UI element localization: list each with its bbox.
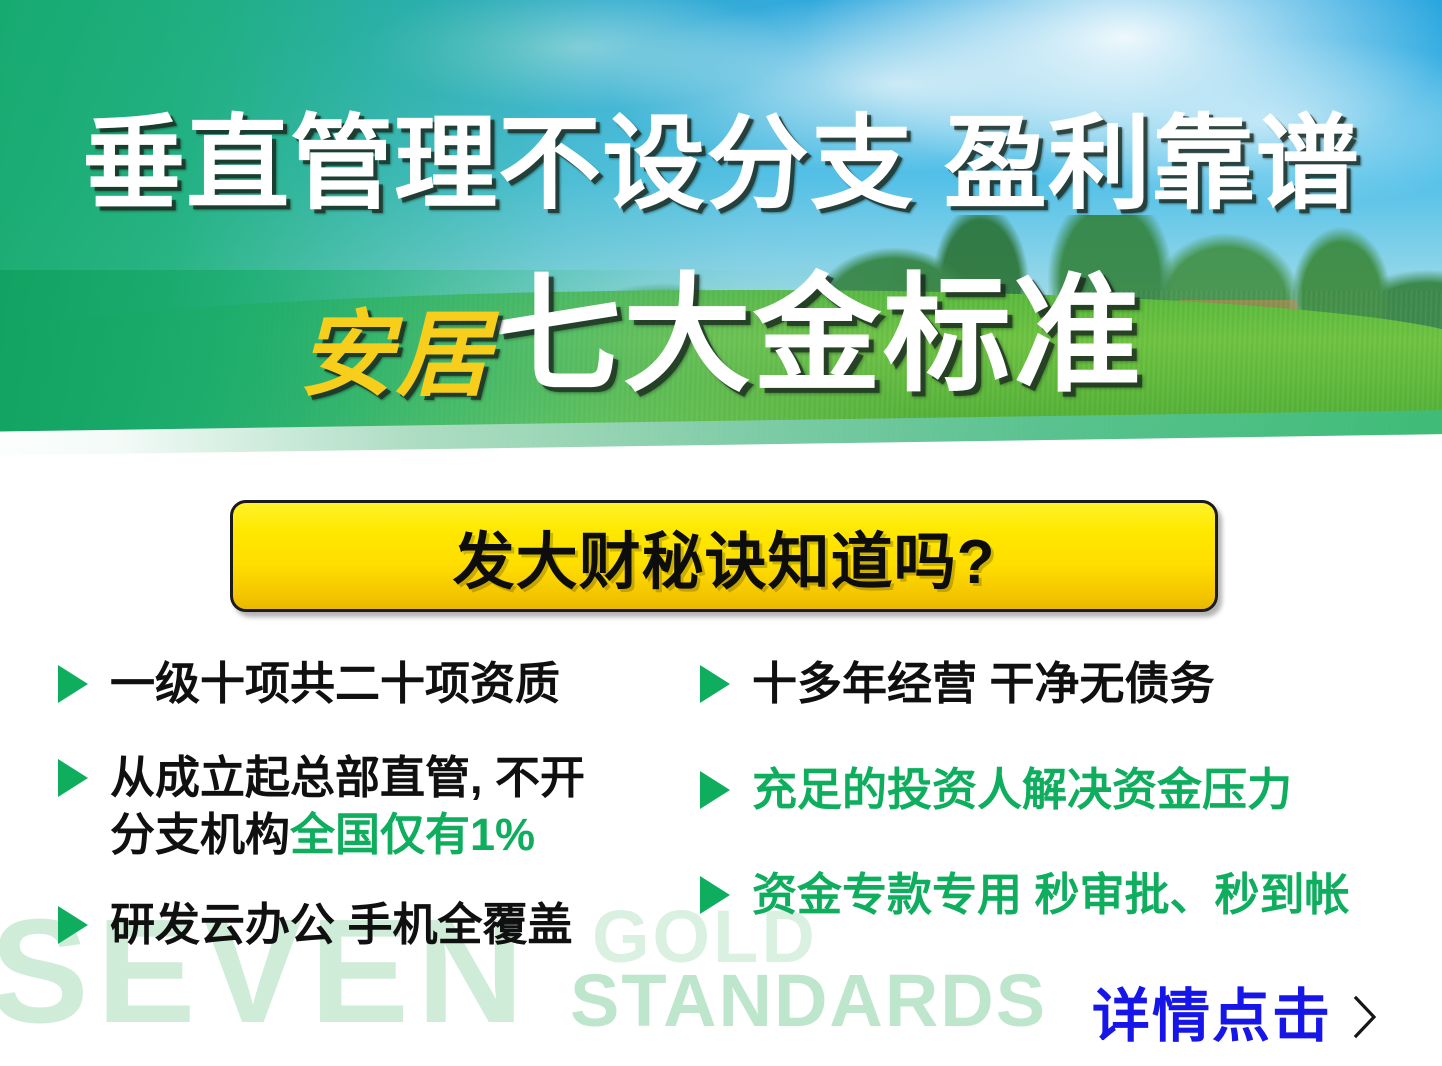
green-triangle-icon [58, 759, 88, 797]
feature-line-1: 从成立起总部直管, 不开 [110, 752, 585, 803]
detail-click-label: 详情点击 [1092, 988, 1332, 1046]
green-triangle-icon [58, 665, 88, 703]
feature-item: 一级十项共二十项资质 [58, 655, 688, 713]
feature-list: 一级十项共二十项资质 从成立起总部直管, 不开 分支机构全国仅有1% 研发云办公… [0, 655, 1442, 985]
feature-item: 研发云办公 手机全覆盖 [58, 896, 688, 954]
feature-item: 充足的投资人解决资金压力 [700, 761, 1442, 819]
feature-line-2-highlight: 全国仅有1% [290, 809, 535, 860]
green-triangle-icon [58, 906, 88, 944]
green-triangle-icon [700, 876, 730, 914]
hero-brand-name: 安居 [299, 309, 493, 403]
yellow-cta-banner[interactable]: 发大财秘诀知道吗? [230, 500, 1218, 612]
feature-column-right: 十多年经营 干净无债务 充足的投资人解决资金压力 资金专款专用 秒审批、秒到帐 [700, 655, 1442, 972]
hero-banner: 垂直管理不设分支 盈利靠谱 安居七大金标准 [0, 0, 1442, 470]
cta-banner-label: 发大财秘诀知道吗? [453, 511, 996, 601]
feature-item-label: 一级十项共二十项资质 [110, 655, 560, 713]
feature-column-left: 一级十项共二十项资质 从成立起总部直管, 不开 分支机构全国仅有1% 研发云办公… [58, 655, 688, 981]
feature-item-label: 研发云办公 手机全覆盖 [110, 896, 573, 954]
feature-item-label: 从成立起总部直管, 不开 分支机构全国仅有1% [110, 749, 585, 864]
green-triangle-icon [700, 665, 730, 703]
feature-line-2-plain: 分支机构 [110, 809, 290, 860]
chevron-right-icon [1350, 994, 1380, 1040]
feature-item: 十多年经营 干净无债务 [700, 655, 1442, 713]
feature-item-label: 十多年经营 干净无债务 [752, 655, 1215, 713]
hero-headline: 垂直管理不设分支 盈利靠谱 [0, 112, 1442, 215]
advertisement-poster: 垂直管理不设分支 盈利靠谱 安居七大金标准 发大财秘诀知道吗? SEVEN GO… [0, 0, 1442, 1066]
feature-item-label: 充足的投资人解决资金压力 [752, 761, 1292, 819]
hero-text-block: 垂直管理不设分支 盈利靠谱 安居七大金标准 [0, 0, 1442, 470]
detail-click-link[interactable]: 详情点击 [1092, 988, 1380, 1046]
feature-item: 资金专款专用 秒审批、秒到帐 [700, 866, 1442, 924]
green-triangle-icon [700, 771, 730, 809]
feature-item-label: 资金专款专用 秒审批、秒到帐 [752, 866, 1350, 924]
hero-subtitle-main: 七大金标准 [493, 272, 1143, 400]
feature-item: 从成立起总部直管, 不开 分支机构全国仅有1% [58, 749, 688, 864]
hero-subtitle: 安居七大金标准 [0, 272, 1442, 400]
